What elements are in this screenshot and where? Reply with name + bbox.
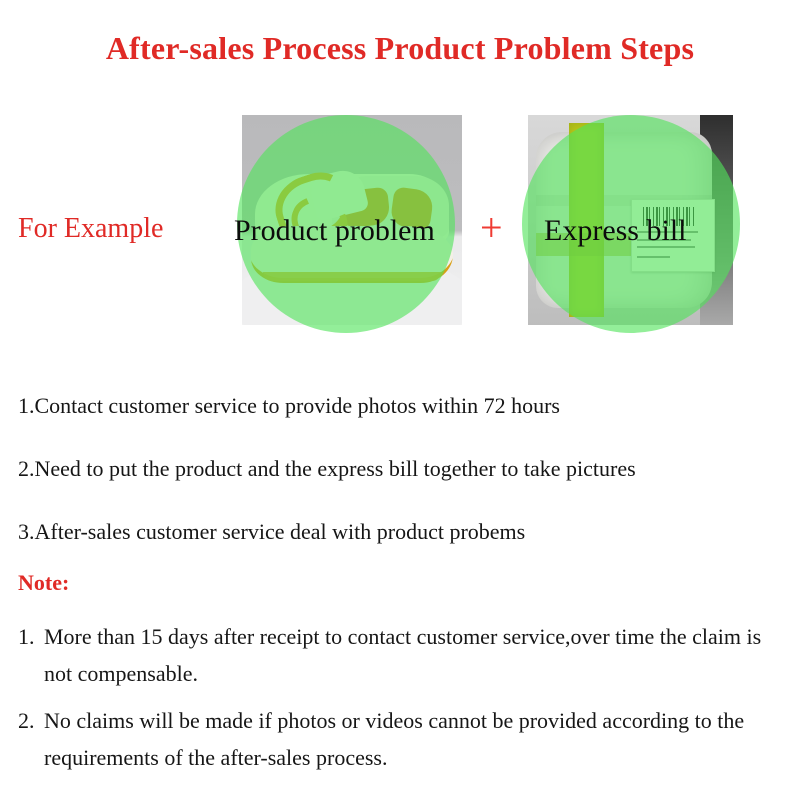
product-problem-caption: Product problem <box>234 216 435 246</box>
note-item: 2. No claims will be made if photos or v… <box>18 702 786 776</box>
note-item: 1. More than 15 days after receipt to co… <box>18 618 786 692</box>
note-item-text: More than 15 days after receipt to conta… <box>44 624 761 686</box>
express-bill-photo-block: Express bill <box>528 115 733 325</box>
step-item: 1.Contact customer service to provide ph… <box>18 393 788 419</box>
for-example-label: For Example <box>18 213 163 245</box>
note-list: 1. More than 15 days after receipt to co… <box>18 618 786 786</box>
note-item-marker: 2. <box>18 702 35 739</box>
note-item-text: No claims will be made if photos or vide… <box>44 708 744 770</box>
page-title: After-sales Process Product Problem Step… <box>0 30 800 67</box>
steps-list: 1.Contact customer service to provide ph… <box>18 393 788 582</box>
step-item: 3.After-sales customer service deal with… <box>18 519 788 545</box>
product-problem-photo-block: Product problem <box>242 115 462 325</box>
example-row: For Example Product problem + <box>0 110 800 335</box>
step-item: 2.Need to put the product and the expres… <box>18 456 788 482</box>
note-item-marker: 1. <box>18 618 35 655</box>
note-heading: Note: <box>18 570 69 596</box>
plus-icon: + <box>480 208 503 248</box>
express-bill-caption: Express bill <box>544 216 687 246</box>
